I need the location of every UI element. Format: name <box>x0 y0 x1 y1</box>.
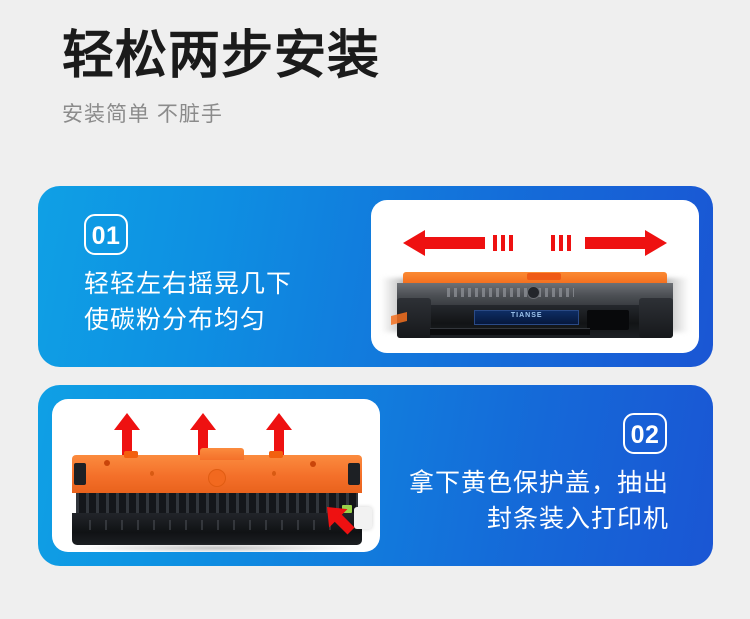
arrow-right-icon <box>549 226 667 260</box>
cartridge-brand-text: TIANSE <box>475 312 578 319</box>
step-01-description: 轻轻左右摇晃几下 使碳粉分布均匀 <box>84 266 292 338</box>
arrow-left-head <box>403 230 425 256</box>
cartridge-knob <box>527 286 540 299</box>
toner-cartridge-front-view: TIANSE <box>397 272 673 338</box>
step-card-01: 01 轻轻左右摇晃几下 使碳粉分布均匀 <box>38 186 713 367</box>
cartridge-drum-slot <box>430 328 590 335</box>
cartridge-brand-label: TIANSE <box>474 310 579 325</box>
cartridge-end-cap-right <box>639 298 673 338</box>
cartridge-end-cap-left <box>74 463 86 485</box>
page-header: 轻松两步安装 安装简单 不脏手 <box>62 28 702 128</box>
step-card-02: 02 拿下黄色保护盖，抽出 封条装入打印机 <box>38 385 713 566</box>
step-01-text-block: 01 轻轻左右摇晃几下 使碳粉分布均匀 <box>62 186 392 367</box>
cartridge-dark-window <box>587 310 628 330</box>
cover-notch <box>269 451 283 458</box>
orange-center-tab <box>527 273 561 280</box>
arrow-right-head <box>645 230 667 256</box>
cover-notch <box>124 451 138 458</box>
arrow-left-icon <box>403 226 521 260</box>
arrow-up-head <box>114 413 140 430</box>
cover-hole <box>104 460 110 466</box>
step-01-photo-panel: TIANSE <box>371 200 699 353</box>
shake-arrow-row <box>371 226 699 260</box>
step-02-photo-panel <box>52 399 380 552</box>
cover-center-tab <box>200 448 244 460</box>
arrow-up-head <box>190 413 216 430</box>
step-02-text-block: 02 拿下黄色保护盖，抽出 封条装入打印机 <box>359 385 689 566</box>
arrow-up-icon <box>266 413 292 455</box>
motion-lines-left-icon <box>493 235 519 251</box>
page-title: 轻松两步安装 <box>62 28 702 84</box>
page-subtitle: 安装简单 不脏手 <box>62 98 702 128</box>
shake-illustration: TIANSE <box>371 200 699 353</box>
toner-cartridge-with-cover <box>72 455 362 545</box>
step-badge-02: 02 <box>623 413 667 454</box>
arrow-right-shaft <box>585 237 647 249</box>
remove-cover-illustration <box>52 399 380 552</box>
arrow-up-icon <box>114 413 140 455</box>
step-badge-01: 01 <box>84 214 128 255</box>
arrow-left-shaft <box>423 237 485 249</box>
arrow-up-head <box>266 413 292 430</box>
cartridge-shadow <box>84 543 351 552</box>
cover-hole <box>310 461 316 467</box>
cartridge-vent-ribs <box>76 493 358 513</box>
motion-lines-right-icon <box>551 235 577 251</box>
step-02-description: 拿下黄色保护盖，抽出 封条装入打印机 <box>409 465 669 537</box>
